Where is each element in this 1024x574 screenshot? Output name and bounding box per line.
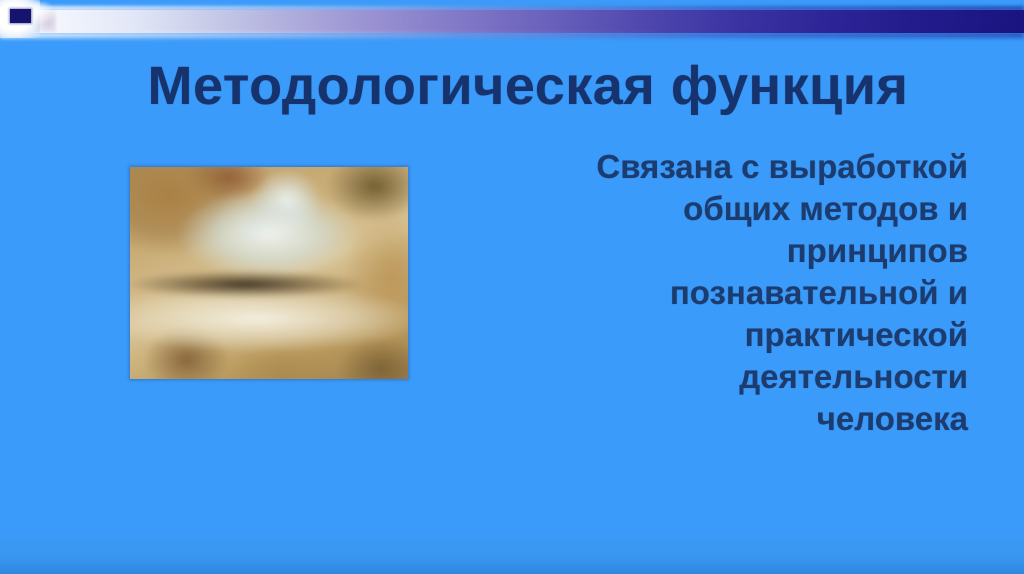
banner-logo-mark (0, 0, 46, 40)
presentation-slide: Методологическая функция Связана с выраб… (0, 0, 1024, 574)
banner-gradient-stripe (0, 10, 1024, 33)
slide-title: Методологическая функция (98, 58, 958, 115)
body-line: практической (408, 314, 968, 356)
slide-image (130, 167, 408, 379)
logo-sparkle-icon (30, 2, 56, 32)
body-line: познавательной и (408, 272, 968, 314)
slide-image-artwork (130, 167, 408, 379)
logo-chip-icon (10, 9, 31, 23)
body-line: человека (408, 398, 968, 440)
body-line: деятельности (408, 356, 968, 398)
slide-top-banner (0, 0, 1024, 40)
body-line: принципов (408, 230, 968, 272)
body-line: общих методов и (408, 188, 968, 230)
slide-body-text: Связана с выработкой общих методов и при… (408, 146, 968, 440)
banner-stripe-glow-bottom (0, 32, 1024, 38)
body-line: Связана с выработкой (408, 146, 968, 188)
